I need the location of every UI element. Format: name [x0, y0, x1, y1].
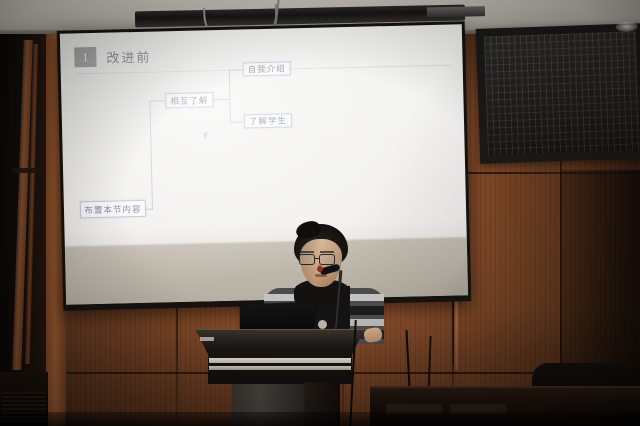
- podium-label-tag: [200, 337, 214, 341]
- connector-to-arrange: [146, 209, 153, 210]
- connector-stub-left: [149, 100, 165, 101]
- glasses-lens-right: [319, 254, 335, 265]
- connector-branch-vertical: [229, 70, 231, 122]
- flowchart-node[interactable]: 了解学生: [244, 113, 292, 128]
- housing-bracket: [427, 6, 485, 17]
- speaker-grille-panel: [476, 23, 640, 164]
- glasses-lens-left: [299, 254, 315, 265]
- flowchart-node[interactable]: 自我介绍: [243, 61, 291, 76]
- eyebrow-left: [300, 251, 314, 253]
- slide-title: 改进前: [106, 46, 151, 66]
- connector-to-know-students: [230, 121, 244, 122]
- podium-top: [196, 330, 364, 354]
- connector-vertical-main: [149, 101, 153, 209]
- eyebrow-right: [320, 251, 334, 253]
- column-bracket: [12, 168, 40, 173]
- microphone-indicator-light: [317, 266, 323, 272]
- podium-stripe: [209, 358, 351, 363]
- mouse-cursor-icon: [204, 131, 212, 139]
- connector-to-self-intro: [229, 69, 243, 70]
- screen-surface: 1 改进前 相互了解 自我介绍 了解学生 布置本节内容 教学设计: [60, 24, 468, 304]
- glasses-bridge: [315, 258, 320, 259]
- connector-right-stub: [213, 99, 229, 100]
- slide-number-badge: 1: [74, 47, 96, 68]
- slide-title-row: 1 改进前: [74, 46, 151, 68]
- floor-shadow: [0, 412, 640, 426]
- flowchart-node[interactable]: 相互了解: [165, 92, 213, 108]
- lecture-hall-photo: 1 改进前 相互了解 自我介绍 了解学生 布置本节内容 教学设计: [0, 0, 640, 426]
- grille-mesh: [484, 31, 640, 155]
- flowchart-node[interactable]: 布置本节内容: [80, 200, 146, 219]
- right-shadow-overlay: [560, 170, 640, 390]
- sweater-button: [318, 320, 327, 329]
- projection-screen: 1 改进前 相互了解 自我介绍 了解学生 布置本节内容 教学设计: [57, 21, 471, 311]
- podium-stripe: [209, 366, 351, 370]
